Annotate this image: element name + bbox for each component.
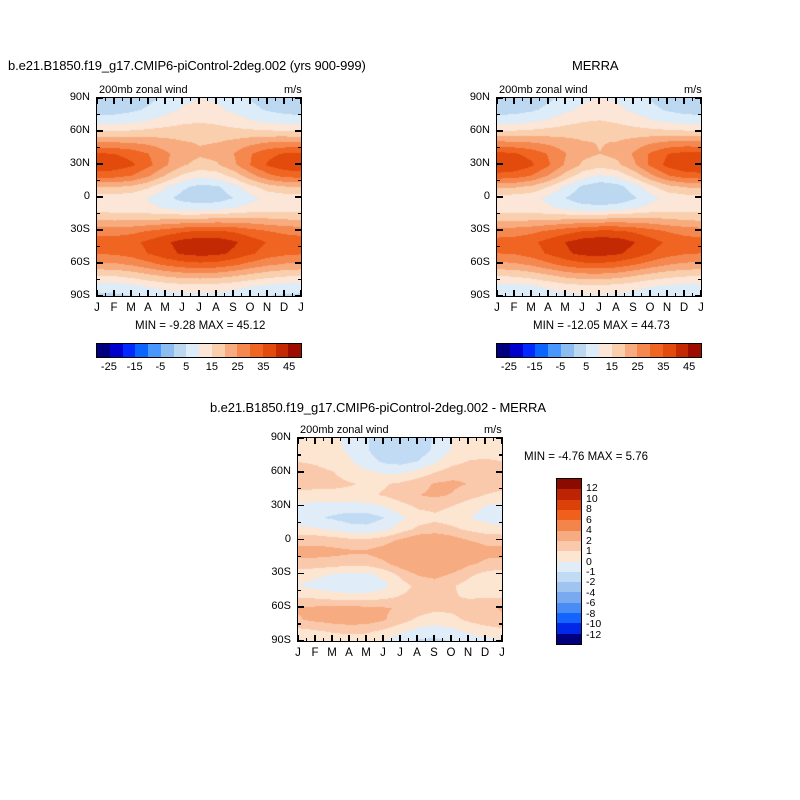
- colorbar-tick-label: 15: [606, 361, 618, 373]
- y-tick-major: [295, 97, 302, 98]
- y-tick-minor: [96, 213, 100, 214]
- y-tick-minor: [96, 279, 100, 280]
- y-tick-major: [295, 262, 302, 263]
- contour-field-diff: [298, 438, 503, 642]
- x-tick-minor: [357, 437, 358, 441]
- y-tick-major: [496, 196, 503, 197]
- y-tick-major: [96, 97, 103, 98]
- x-tick-major: [181, 97, 182, 104]
- y-tick-major: [295, 196, 302, 197]
- x-tick-minor: [408, 437, 409, 441]
- x-tick-major: [365, 635, 366, 642]
- colorbar-tick-label: 45: [683, 361, 695, 373]
- x-tick-major: [331, 635, 332, 642]
- minmax-diff: MIN = -4.76 MAX = 5.76: [524, 451, 648, 463]
- y-tick-major: [496, 229, 503, 230]
- x-tick-major: [198, 290, 199, 297]
- colorbar-cell: [557, 592, 581, 602]
- y-tick-major: [297, 437, 304, 438]
- y-tick-major: [496, 640, 503, 641]
- contour-field-obs: [497, 98, 702, 297]
- x-tick-major: [632, 97, 633, 104]
- y-tick-major: [496, 606, 503, 607]
- x-tick-minor: [539, 293, 540, 297]
- colorbar-cell: [263, 344, 276, 357]
- x-tick-minor: [139, 97, 140, 101]
- y-axis-label: 90N: [56, 91, 90, 103]
- colorbar-cell: [288, 344, 301, 357]
- x-tick-major: [399, 437, 400, 444]
- y-tick-major: [496, 295, 503, 296]
- colorbar-model[interactable]: [96, 343, 302, 358]
- y-tick-major: [96, 130, 103, 131]
- x-tick-minor: [258, 293, 259, 297]
- y-tick-minor: [499, 454, 503, 455]
- plot-header-diff-left: 200mb zonal wind: [300, 424, 389, 436]
- colorbar-cell: [625, 344, 638, 357]
- x-tick-minor: [590, 293, 591, 297]
- x-tick-major: [266, 97, 267, 104]
- x-tick-major: [632, 290, 633, 297]
- x-tick-major: [215, 290, 216, 297]
- x-tick-minor: [173, 97, 174, 101]
- x-tick-minor: [607, 97, 608, 101]
- x-tick-major: [314, 437, 315, 444]
- y-tick-major: [695, 196, 702, 197]
- x-tick-major: [249, 290, 250, 297]
- x-tick-major: [433, 635, 434, 642]
- colorbar-cell: [557, 623, 581, 633]
- colorbar-cell: [110, 344, 123, 357]
- x-tick-major: [598, 290, 599, 297]
- x-tick-major: [113, 97, 114, 104]
- y-tick-minor: [499, 590, 503, 591]
- x-tick-major: [547, 97, 548, 104]
- x-tick-minor: [692, 97, 693, 101]
- y-tick-minor: [698, 246, 702, 247]
- colorbar-cell: [557, 603, 581, 613]
- x-tick-minor: [224, 97, 225, 101]
- y-tick-minor: [496, 279, 500, 280]
- colorbar-cell: [557, 562, 581, 572]
- x-tick-minor: [292, 97, 293, 101]
- x-tick-minor: [374, 638, 375, 642]
- x-tick-major: [232, 97, 233, 104]
- y-tick-major: [297, 539, 304, 540]
- x-tick-minor: [658, 97, 659, 101]
- x-tick-minor: [275, 293, 276, 297]
- x-tick-minor: [425, 638, 426, 642]
- colorbar-cell: [97, 344, 110, 357]
- colorbar-cell: [557, 479, 581, 489]
- x-tick-minor: [306, 638, 307, 642]
- x-tick-major: [450, 437, 451, 444]
- colorbar-tick-label: 35: [657, 361, 669, 373]
- x-tick-minor: [173, 293, 174, 297]
- y-tick-minor: [499, 488, 503, 489]
- y-axis-label: 0: [56, 190, 90, 202]
- x-tick-major: [164, 97, 165, 104]
- y-tick-major: [96, 196, 103, 197]
- x-tick-minor: [207, 293, 208, 297]
- x-tick-minor: [573, 293, 574, 297]
- colorbar-cell: [174, 344, 187, 357]
- x-tick-minor: [607, 293, 608, 297]
- colorbar-tick-label: -5: [155, 361, 165, 373]
- x-tick-major: [232, 290, 233, 297]
- y-tick-major: [295, 130, 302, 131]
- y-tick-major: [496, 505, 503, 506]
- y-tick-minor: [297, 454, 301, 455]
- colorbar-cell: [557, 520, 581, 530]
- y-tick-minor: [96, 114, 100, 115]
- x-tick-major: [649, 97, 650, 104]
- x-tick-minor: [442, 638, 443, 642]
- x-tick-major: [382, 635, 383, 642]
- y-axis-label: 90N: [456, 91, 490, 103]
- x-tick-minor: [340, 437, 341, 441]
- colorbar-tick-label: -15: [127, 361, 143, 373]
- colorbar-tick-label: -15: [527, 361, 543, 373]
- y-tick-major: [96, 229, 103, 230]
- plot-header-model-right: m/s: [284, 84, 302, 96]
- plot-obs[interactable]: [496, 97, 702, 297]
- colorbar-cell: [557, 582, 581, 592]
- x-tick-minor: [374, 437, 375, 441]
- x-tick-minor: [391, 638, 392, 642]
- colorbar-cell: [250, 344, 263, 357]
- y-tick-major: [695, 163, 702, 164]
- x-tick-major: [215, 97, 216, 104]
- y-tick-minor: [298, 147, 302, 148]
- y-tick-minor: [496, 213, 500, 214]
- y-axis-label: 60N: [56, 124, 90, 136]
- y-tick-minor: [297, 556, 301, 557]
- y-tick-major: [695, 130, 702, 131]
- y-tick-major: [496, 437, 503, 438]
- x-tick-minor: [675, 97, 676, 101]
- colorbar-model-labels: -25-15-5515253545: [96, 361, 302, 375]
- colorbar-tick-label: -12: [586, 629, 601, 641]
- x-axis-label: J: [492, 647, 512, 659]
- x-tick-major: [130, 97, 131, 104]
- y-tick-minor: [698, 147, 702, 148]
- x-tick-major: [433, 437, 434, 444]
- x-tick-major: [348, 437, 349, 444]
- colorbar-cell: [557, 613, 581, 623]
- colorbar-cell: [523, 344, 536, 357]
- colorbar-tick-label: 25: [632, 361, 644, 373]
- x-axis-label: J: [691, 302, 711, 314]
- x-tick-major: [249, 97, 250, 104]
- y-axis-label: 0: [257, 533, 291, 545]
- y-tick-major: [295, 295, 302, 296]
- colorbar-cell: [561, 344, 574, 357]
- y-tick-minor: [499, 522, 503, 523]
- y-tick-major: [295, 163, 302, 164]
- x-tick-minor: [207, 97, 208, 101]
- y-axis-label: 60S: [257, 600, 291, 612]
- x-tick-minor: [122, 97, 123, 101]
- y-tick-major: [295, 229, 302, 230]
- colorbar-cell: [574, 344, 587, 357]
- y-axis-label: 0: [456, 190, 490, 202]
- colorbar-tick-label: 25: [232, 361, 244, 373]
- y-tick-minor: [96, 246, 100, 247]
- y-tick-minor: [297, 522, 301, 523]
- x-tick-major: [530, 290, 531, 297]
- x-tick-major: [683, 97, 684, 104]
- colorbar-cell: [688, 344, 701, 357]
- colorbar-cell: [557, 634, 581, 644]
- colorbar-cell: [612, 344, 625, 357]
- x-tick-minor: [258, 97, 259, 101]
- x-tick-major: [615, 97, 616, 104]
- x-axis-label: J: [291, 302, 311, 314]
- plot-diff[interactable]: [297, 437, 503, 642]
- x-tick-minor: [573, 97, 574, 101]
- x-tick-minor: [122, 293, 123, 297]
- x-tick-minor: [425, 437, 426, 441]
- y-axis-label: 60N: [456, 124, 490, 136]
- colorbar-cell: [225, 344, 238, 357]
- y-axis-label: 60S: [456, 256, 490, 268]
- x-tick-minor: [675, 293, 676, 297]
- y-tick-minor: [298, 213, 302, 214]
- y-tick-minor: [499, 623, 503, 624]
- x-tick-major: [581, 290, 582, 297]
- x-tick-minor: [692, 293, 693, 297]
- y-tick-major: [297, 573, 304, 574]
- x-tick-major: [484, 437, 485, 444]
- x-tick-minor: [391, 437, 392, 441]
- y-tick-minor: [96, 147, 100, 148]
- colorbar-cell: [650, 344, 663, 357]
- x-tick-major: [581, 97, 582, 104]
- x-tick-major: [598, 97, 599, 104]
- colorbar-cell: [599, 344, 612, 357]
- y-axis-label: 30N: [56, 157, 90, 169]
- x-tick-major: [467, 437, 468, 444]
- colorbar-cell: [535, 344, 548, 357]
- x-tick-minor: [139, 293, 140, 297]
- y-tick-major: [496, 471, 503, 472]
- y-tick-minor: [496, 180, 500, 181]
- x-tick-minor: [590, 97, 591, 101]
- colorbar-cell: [637, 344, 650, 357]
- x-tick-major: [164, 290, 165, 297]
- colorbar-cell: [586, 344, 599, 357]
- y-axis-label: 90S: [56, 289, 90, 301]
- x-tick-minor: [241, 293, 242, 297]
- y-tick-major: [695, 262, 702, 263]
- x-tick-minor: [340, 638, 341, 642]
- colorbar-cell: [237, 344, 250, 357]
- x-tick-minor: [493, 437, 494, 441]
- y-axis-label: 30S: [56, 223, 90, 235]
- plot-header-obs-left: 200mb zonal wind: [499, 84, 588, 96]
- y-tick-major: [297, 640, 304, 641]
- colorbar-tick-label: 45: [283, 361, 295, 373]
- colorbar-obs-labels: -25-15-5515253545: [496, 361, 702, 375]
- y-tick-minor: [298, 279, 302, 280]
- colorbar-tick-label: -25: [501, 361, 517, 373]
- x-tick-major: [399, 635, 400, 642]
- x-tick-minor: [323, 638, 324, 642]
- x-tick-major: [450, 635, 451, 642]
- colorbar-tick-label: 5: [583, 361, 589, 373]
- colorbar-cell: [557, 541, 581, 551]
- colorbar-cell: [557, 510, 581, 520]
- minmax-obs: MIN = -12.05 MAX = 44.73: [533, 320, 670, 332]
- x-tick-major: [547, 290, 548, 297]
- x-tick-minor: [556, 293, 557, 297]
- y-tick-minor: [496, 246, 500, 247]
- colorbar-cell: [557, 500, 581, 510]
- x-tick-minor: [493, 638, 494, 642]
- y-tick-major: [297, 606, 304, 607]
- x-tick-minor: [190, 97, 191, 101]
- colorbar-obs[interactable]: [496, 343, 702, 358]
- x-tick-minor: [624, 97, 625, 101]
- colorbar-cell: [135, 344, 148, 357]
- y-tick-minor: [297, 488, 301, 489]
- colorbar-cell: [557, 531, 581, 541]
- contour-field-model: [97, 98, 302, 297]
- x-tick-major: [564, 290, 565, 297]
- y-axis-label: 90S: [257, 634, 291, 646]
- colorbar-cell: [161, 344, 174, 357]
- x-tick-minor: [459, 638, 460, 642]
- x-tick-minor: [105, 293, 106, 297]
- y-tick-major: [496, 97, 503, 98]
- colorbar-tick-label: 5: [183, 361, 189, 373]
- x-tick-minor: [156, 97, 157, 101]
- y-tick-minor: [698, 180, 702, 181]
- colorbar-cell: [676, 344, 689, 357]
- y-axis-label: 90S: [456, 289, 490, 301]
- x-tick-major: [530, 97, 531, 104]
- y-axis-label: 30S: [456, 223, 490, 235]
- y-tick-major: [496, 262, 503, 263]
- x-tick-major: [348, 635, 349, 642]
- y-tick-minor: [96, 180, 100, 181]
- colorbar-cell: [186, 344, 199, 357]
- y-tick-minor: [698, 213, 702, 214]
- y-tick-minor: [499, 556, 503, 557]
- x-tick-major: [683, 290, 684, 297]
- x-tick-major: [113, 290, 114, 297]
- x-tick-minor: [408, 638, 409, 642]
- x-tick-major: [513, 97, 514, 104]
- x-tick-major: [649, 290, 650, 297]
- colorbar-cell: [510, 344, 523, 357]
- y-tick-major: [695, 295, 702, 296]
- colorbar-tick-label: -5: [555, 361, 565, 373]
- y-tick-minor: [698, 114, 702, 115]
- x-tick-major: [331, 437, 332, 444]
- y-axis-label: 30N: [257, 499, 291, 511]
- y-tick-major: [297, 505, 304, 506]
- x-tick-minor: [641, 293, 642, 297]
- x-tick-major: [666, 97, 667, 104]
- x-tick-minor: [190, 293, 191, 297]
- x-tick-major: [147, 97, 148, 104]
- colorbar-cell: [557, 489, 581, 499]
- x-tick-major: [382, 437, 383, 444]
- x-tick-minor: [539, 97, 540, 101]
- colorbar-cell: [148, 344, 161, 357]
- x-tick-major: [283, 97, 284, 104]
- colorbar-diff[interactable]: [556, 478, 582, 645]
- y-tick-major: [496, 539, 503, 540]
- y-tick-major: [695, 229, 702, 230]
- colorbar-cell: [663, 344, 676, 357]
- y-tick-major: [695, 97, 702, 98]
- y-tick-major: [496, 130, 503, 131]
- x-tick-minor: [306, 437, 307, 441]
- y-tick-minor: [297, 590, 301, 591]
- colorbar-cell: [276, 344, 289, 357]
- y-tick-minor: [298, 246, 302, 247]
- plot-header-obs-right: m/s: [684, 84, 702, 96]
- x-tick-major: [666, 290, 667, 297]
- y-axis-label: 90N: [257, 431, 291, 443]
- x-tick-major: [615, 290, 616, 297]
- y-axis-label: 60S: [56, 256, 90, 268]
- x-tick-minor: [476, 437, 477, 441]
- x-tick-minor: [459, 437, 460, 441]
- plot-header-diff-right: m/s: [484, 424, 502, 436]
- y-tick-major: [96, 295, 103, 296]
- y-tick-minor: [496, 147, 500, 148]
- x-tick-minor: [505, 293, 506, 297]
- x-tick-minor: [442, 437, 443, 441]
- x-tick-minor: [522, 293, 523, 297]
- minmax-model: MIN = -9.28 MAX = 45.12: [135, 320, 265, 332]
- x-tick-minor: [105, 97, 106, 101]
- x-tick-major: [416, 437, 417, 444]
- colorbar-cell: [548, 344, 561, 357]
- y-tick-minor: [298, 114, 302, 115]
- x-tick-minor: [241, 97, 242, 101]
- panel-title-obs: MERRA: [572, 58, 618, 73]
- x-tick-minor: [156, 293, 157, 297]
- y-tick-major: [96, 262, 103, 263]
- x-tick-major: [198, 97, 199, 104]
- panel-title-model: b.e21.B1850.f19_g17.CMIP6-piControl-2deg…: [8, 58, 366, 73]
- colorbar-cell: [557, 551, 581, 561]
- x-tick-minor: [292, 293, 293, 297]
- x-tick-minor: [556, 97, 557, 101]
- y-axis-label: 60N: [257, 465, 291, 477]
- x-tick-minor: [476, 638, 477, 642]
- x-tick-minor: [641, 97, 642, 101]
- colorbar-cell: [557, 572, 581, 582]
- x-tick-major: [416, 635, 417, 642]
- x-tick-minor: [323, 437, 324, 441]
- x-tick-minor: [624, 293, 625, 297]
- y-tick-minor: [698, 279, 702, 280]
- figure-canvas: b.e21.B1850.f19_g17.CMIP6-piControl-2deg…: [0, 0, 800, 800]
- x-tick-minor: [275, 97, 276, 101]
- colorbar-cell: [212, 344, 225, 357]
- y-tick-major: [297, 471, 304, 472]
- plot-model[interactable]: [96, 97, 302, 297]
- x-tick-minor: [505, 97, 506, 101]
- y-tick-major: [496, 163, 503, 164]
- x-tick-major: [484, 635, 485, 642]
